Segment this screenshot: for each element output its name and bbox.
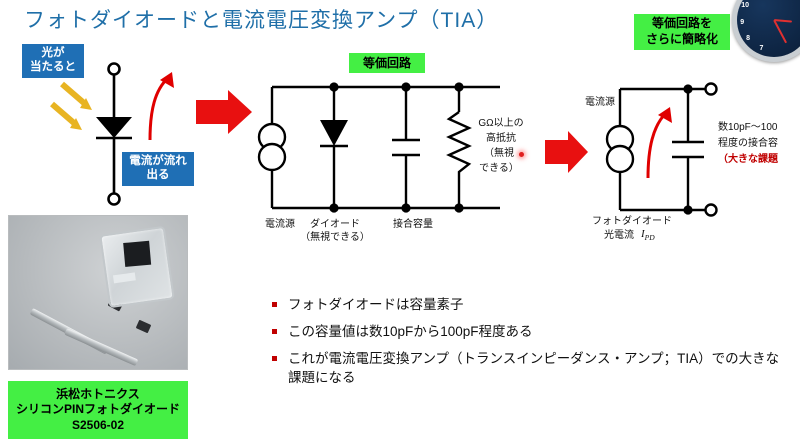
clock-face: 12 11 10 9 8 7 bbox=[737, 0, 800, 57]
current-source-circle-bottom-right bbox=[607, 146, 633, 172]
photo-caption-box: 浜松ホトニクス シリコンPINフォトダイオード S2506-02 bbox=[8, 381, 188, 439]
label-photodiode-right-line1: フォトダイオード bbox=[588, 216, 676, 229]
light-ray-arrow-1 bbox=[62, 84, 84, 103]
transition-arrow-1 bbox=[196, 90, 252, 134]
photo-caption-line1: 浜松ホトニクス bbox=[14, 387, 182, 403]
light-incident-label-line1: 光が bbox=[26, 46, 80, 60]
simplified-circuit-heading: 等価回路を さらに簡略化 bbox=[634, 14, 730, 50]
photodiode-triangle bbox=[96, 117, 132, 138]
clock-number-10: 10 bbox=[740, 2, 750, 9]
current-flows-label-line1: 電流が流れ bbox=[126, 154, 190, 168]
cap-note-line2: 程度の接合容 bbox=[718, 138, 778, 151]
label-diode-mid-line2: （無視できる） bbox=[295, 232, 375, 245]
bullet-marker-icon bbox=[272, 329, 277, 334]
label-junction-capacitance-mid: 接合容量 bbox=[385, 219, 441, 232]
clock-widget: 12 11 10 9 8 7 bbox=[732, 0, 800, 62]
photodiode-package bbox=[99, 226, 175, 308]
photodiode-terminal-bottom bbox=[109, 194, 120, 205]
red-dot-marker bbox=[519, 152, 524, 157]
clock-number-7: 7 bbox=[756, 45, 766, 52]
node-dot bbox=[401, 82, 410, 91]
current-source-circle-top-right bbox=[607, 126, 633, 152]
slide-root: フォトダイオードと電流電圧変換アンプ（TIA） 12 11 10 9 8 7 光… bbox=[0, 0, 800, 448]
diode-triangle-mid bbox=[320, 120, 348, 146]
current-direction-arrowhead-right bbox=[658, 107, 672, 123]
list-item: この容量値は数10pFから100pF程度ある bbox=[272, 323, 792, 341]
light-ray-arrow-2 bbox=[52, 104, 74, 123]
current-direction-arrow-right bbox=[648, 113, 666, 178]
photodiode-tab bbox=[113, 272, 136, 283]
node-dot bbox=[683, 205, 692, 214]
node-dot bbox=[329, 82, 338, 91]
node-dot bbox=[454, 82, 463, 91]
photodiode-terminal-top bbox=[109, 64, 120, 75]
clock-number-9: 9 bbox=[737, 19, 747, 26]
light-incident-label: 光が 当たると bbox=[22, 44, 84, 78]
photo-caption-line2: シリコンPINフォトダイオード bbox=[14, 402, 182, 418]
output-terminal-top bbox=[706, 84, 717, 95]
label-diode-mid-line1: ダイオード bbox=[300, 219, 370, 232]
bullet-text: この容量値は数10pFから100pF程度ある bbox=[288, 323, 533, 341]
photo-caption-line3: S2506-02 bbox=[14, 418, 182, 434]
simplified-circuit bbox=[620, 89, 706, 210]
node-dot bbox=[329, 203, 338, 212]
label-resistor-line4: できる） bbox=[470, 163, 528, 176]
current-flows-label: 電流が流れ 出る bbox=[122, 152, 194, 186]
node-dot bbox=[454, 203, 463, 212]
label-resistor-line1: GΩ以上の bbox=[472, 118, 530, 131]
light-ray-arrowhead-1 bbox=[80, 98, 92, 110]
cap-note-line3: （大きな課題 bbox=[718, 154, 778, 167]
output-terminal-bottom bbox=[706, 205, 717, 216]
label-photodiode-right-line2: 光電流 bbox=[590, 230, 634, 243]
list-item: フォトダイオードは容量素子 bbox=[272, 296, 792, 314]
bullet-marker-icon bbox=[272, 302, 277, 307]
current-direction-arrowhead-left bbox=[160, 72, 174, 88]
photodiode-chip bbox=[123, 241, 151, 267]
label-photocurrent-symbol: IPD bbox=[641, 228, 655, 242]
node-dot bbox=[683, 84, 692, 93]
bullet-marker-icon bbox=[272, 356, 277, 361]
bullet-list: フォトダイオードは容量素子 この容量値は数10pFから100pF程度ある これが… bbox=[272, 296, 792, 396]
bullet-text: フォトダイオードは容量素子 bbox=[288, 296, 464, 314]
light-incident-label-line2: 当たると bbox=[26, 60, 80, 74]
light-ray-arrowhead-2 bbox=[70, 118, 82, 130]
label-current-source-mid: 電流源 bbox=[258, 219, 302, 232]
cap-note-line1: 数10pF〜100 bbox=[718, 122, 777, 135]
label-resistor-line2: 高抵抗 bbox=[472, 133, 530, 146]
clock-hand-minute bbox=[773, 20, 787, 44]
clock-number-8: 8 bbox=[743, 35, 753, 42]
photodiode-lead-joint-2 bbox=[136, 320, 152, 334]
current-source-circle-top-mid bbox=[259, 124, 285, 150]
equivalent-circuit bbox=[272, 87, 500, 208]
photocurrent-subscript: PD bbox=[645, 233, 655, 242]
bullet-text: これが電流電圧変換アンプ（トランスインピーダンス・アンプ；TIA）での大きな課題… bbox=[288, 350, 792, 386]
simplified-heading-line1: 等価回路を bbox=[640, 16, 724, 32]
current-direction-arrow-left bbox=[150, 78, 168, 140]
current-source-circle-bottom-mid bbox=[259, 144, 285, 170]
list-item: これが電流電圧変換アンプ（トランスインピーダンス・アンプ；TIA）での大きな課題… bbox=[272, 350, 792, 386]
photodiode-photo bbox=[8, 215, 188, 370]
label-current-source-right: 電流源 bbox=[578, 97, 622, 110]
current-flows-label-line2: 出る bbox=[126, 168, 190, 182]
photodiode-lead-2 bbox=[64, 328, 138, 366]
simplified-heading-line2: さらに簡略化 bbox=[640, 32, 724, 48]
equivalent-circuit-heading: 等価回路 bbox=[349, 53, 425, 73]
page-title: フォトダイオードと電流電圧変換アンプ（TIA） bbox=[24, 4, 498, 34]
transition-arrow-2 bbox=[545, 131, 588, 173]
node-dot bbox=[401, 203, 410, 212]
